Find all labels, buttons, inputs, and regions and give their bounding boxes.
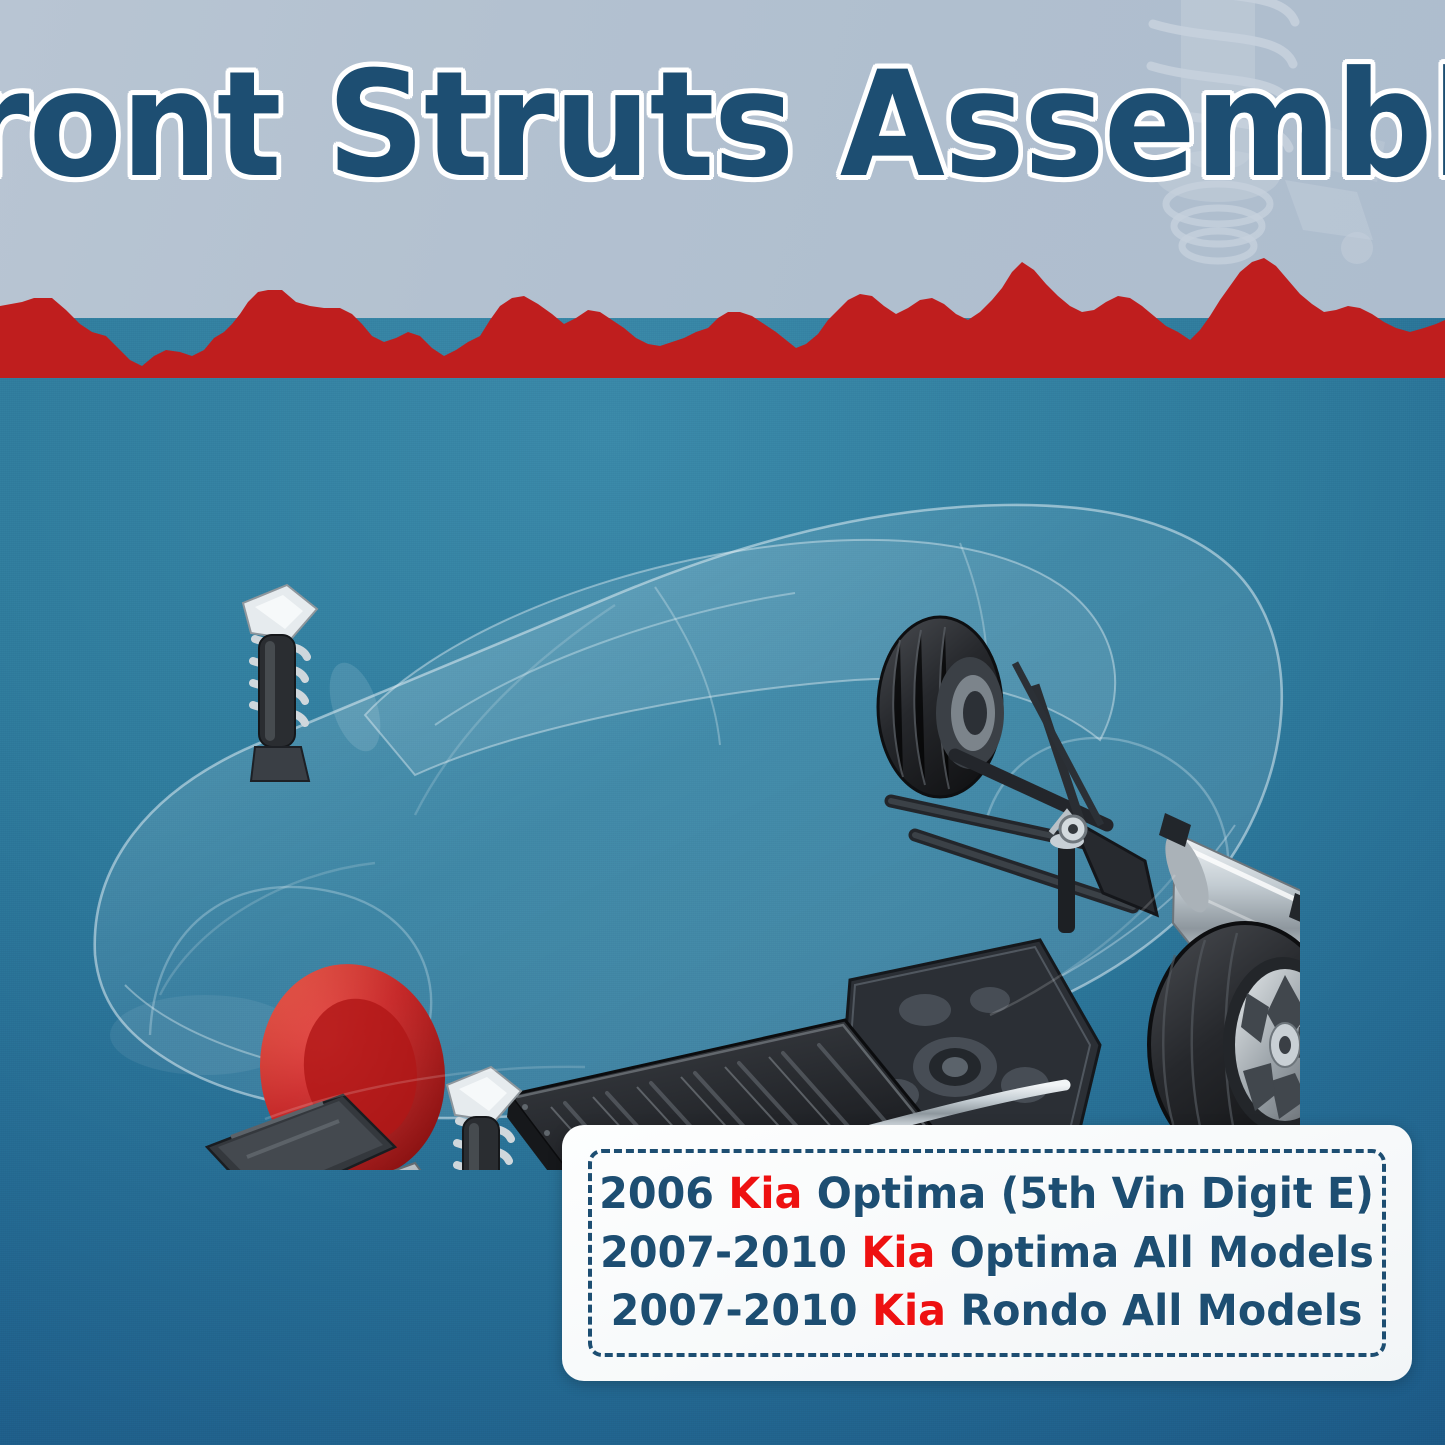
- fitment-row: 2007-2010 Kia Optima All Models: [600, 1227, 1374, 1279]
- brand-label: Kia: [861, 1228, 935, 1278]
- fitment-card: 2006 Kia Optima (5th Vin Digit E) 2007-2…: [562, 1125, 1412, 1381]
- fitment-year: 2007-2010: [600, 1228, 861, 1278]
- fitment-dashed-border: 2006 Kia Optima (5th Vin Digit E) 2007-2…: [588, 1149, 1386, 1357]
- torn-red-edge: [0, 228, 1445, 378]
- page-title: Front Struts Assembly: [0, 52, 1445, 198]
- fitment-year: 2007-2010: [611, 1286, 872, 1336]
- fitment-row: 2007-2010 Kia Rondo All Models: [611, 1285, 1363, 1337]
- fitment-model: Optima All Models: [935, 1228, 1373, 1278]
- product-poster: Front Struts Assembly 2006 Kia Optima (5…: [0, 0, 1445, 1445]
- fitment-row: 2006 Kia Optima (5th Vin Digit E): [600, 1168, 1375, 1220]
- ev-chassis-illustration: [55, 395, 1300, 1170]
- brand-label: Kia: [729, 1169, 803, 1219]
- fitment-model: Optima (5th Vin Digit E): [803, 1169, 1375, 1219]
- fitment-model: Rondo All Models: [946, 1286, 1363, 1336]
- fitment-year: 2006: [600, 1169, 729, 1219]
- brand-label: Kia: [872, 1286, 946, 1336]
